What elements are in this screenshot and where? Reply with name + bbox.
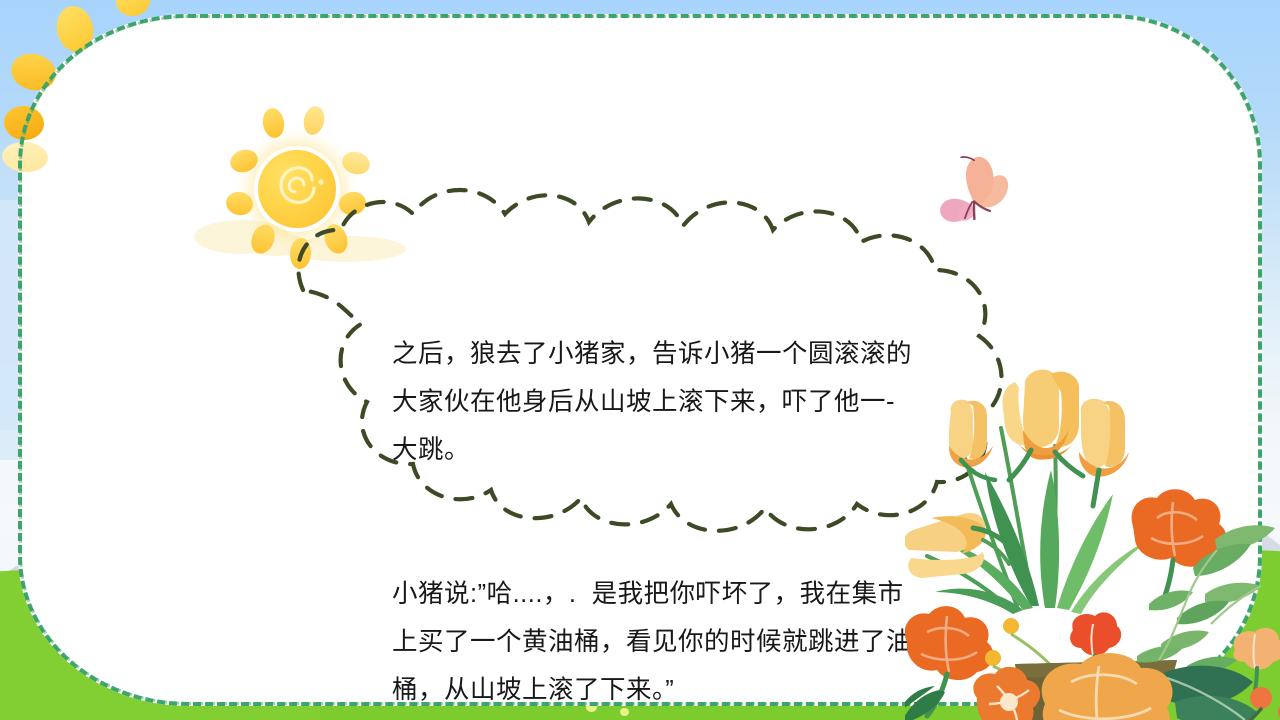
tulip-flower (949, 400, 995, 480)
dark-leaves (1161, 666, 1259, 720)
story-paragraph-2: 小猪说:”哈....，. 是我把你吓坏了，我在集市上买了一个黄油桶，看见你的时候… (392, 570, 912, 714)
poppy-flower (1132, 489, 1227, 606)
slide-stage: 之后，狼去了小猪家，告诉小猪一个圆滚滚的大家伙在他身后从山坡上滚下来，吓了他一-… (0, 0, 1280, 720)
story-paragraph-1: 之后，狼去了小猪家，告诉小猪一个圆滚滚的大家伙在他身后从山坡上滚下来，吓了他一-… (392, 330, 912, 474)
butterfly-icon (928, 152, 1014, 234)
tulip-flower (1003, 370, 1084, 480)
flower-pot-arrangement (905, 368, 1280, 720)
story-text-block: 之后，狼去了小猪家，告诉小猪一个圆滚滚的大家伙在他身后从山坡上滚下来，吓了他一-… (392, 234, 912, 720)
tulip-flower (1079, 399, 1129, 506)
